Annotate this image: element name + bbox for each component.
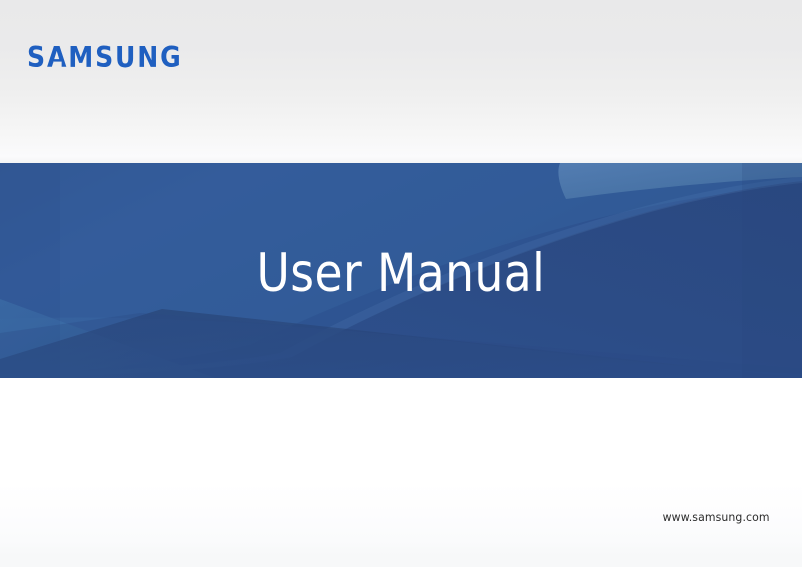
user-manual-cover-page: SAMSUNG [0, 0, 802, 567]
title-banner: User Manual [0, 163, 802, 378]
samsung-wordmark: SAMSUNG [27, 44, 183, 72]
logo-letters-msung: MSUNG [68, 42, 182, 74]
logo-letter-a-no-crossbar: A [47, 44, 68, 72]
banner-left-vignette [0, 163, 60, 378]
page-footer: www.samsung.com [0, 378, 802, 567]
banner-background-art [0, 163, 802, 378]
banner-right-vignette [742, 163, 802, 378]
samsung-logo: SAMSUNG [27, 45, 194, 72]
page-header: SAMSUNG [0, 0, 802, 163]
logo-letter-s: S [27, 42, 47, 74]
samsung-website-url[interactable]: www.samsung.com [663, 510, 770, 524]
